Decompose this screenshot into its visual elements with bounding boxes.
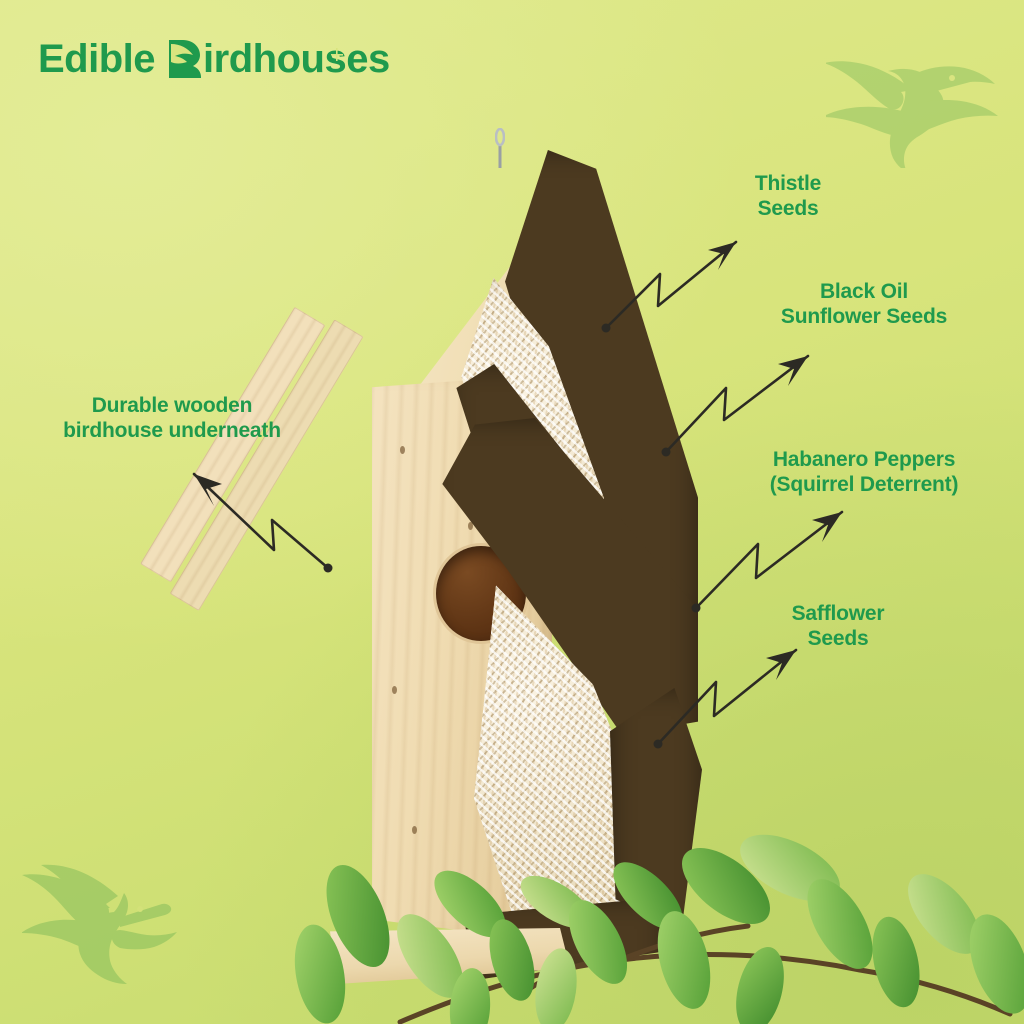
hummingbird-icon (826, 28, 1016, 168)
brand-word-birdhouses: irdhouses (203, 39, 390, 79)
callout-label-durable-wooden: Durable wooden birdhouse underneath (22, 394, 322, 444)
brand-word-text: irdhouses (203, 37, 390, 81)
wood-knot (392, 686, 397, 694)
callout-line: Durable wooden (22, 394, 322, 419)
callout-label-black-oil-sunflower: Black Oil Sunflower Seeds (744, 280, 984, 330)
callout-line: Black Oil (744, 280, 984, 305)
callout-line: birdhouse underneath (22, 419, 322, 444)
leaf-bird-b-icon (167, 38, 201, 80)
callout-line: (Squirrel Deterrent) (730, 473, 998, 498)
callout-arrow-safflower (652, 636, 822, 756)
callout-label-safflower: Safflower Seeds (748, 602, 928, 652)
callout-line: Safflower (748, 602, 928, 627)
callout-arrow-black-oil-sunflower (660, 344, 835, 464)
branch-leaves-icon (0, 764, 1024, 1024)
callout-line: Habanero Peppers (730, 448, 998, 473)
callout-line: Seeds (748, 627, 928, 652)
callout-label-thistle: Thistle Seeds (704, 172, 872, 222)
callout-line: Seeds (704, 197, 872, 222)
brand-wordmark: Edible irdhouses (38, 38, 390, 80)
birdhouse-window-mark (331, 48, 343, 61)
callout-line: Thistle (704, 172, 872, 197)
hanging-hook-icon (495, 128, 505, 168)
callout-label-habanero-peppers: Habanero Peppers (Squirrel Deterrent) (730, 448, 998, 498)
callout-arrow-durable-wooden (176, 462, 336, 577)
infographic-canvas: Edible irdhouses (0, 0, 1024, 1024)
brand-word-edible: Edible (38, 39, 155, 79)
callout-arrow-thistle (598, 228, 758, 338)
wood-knot (400, 446, 405, 454)
callout-line: Sunflower Seeds (744, 305, 984, 330)
